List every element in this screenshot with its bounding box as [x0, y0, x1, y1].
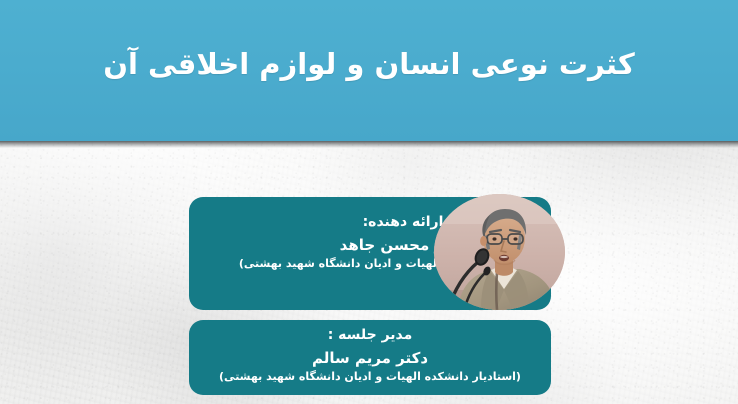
speaker-photo [434, 194, 565, 310]
moderator-name: دکتر مریم سالم [203, 347, 537, 370]
page-title: کثرت نوعی انسان و لوازم اخلاقی آن [73, 47, 665, 82]
event-poster: کثرت نوعی انسان و لوازم اخلاقی آن ارائه … [0, 0, 738, 404]
moderator-role-label: مدیر جلسه : [203, 325, 537, 347]
poster-header: کثرت نوعی انسان و لوازم اخلاقی آن [0, 0, 738, 141]
moderator-card: مدیر جلسه : دکتر مریم سالم (استادیار دان… [189, 320, 551, 395]
speaker-portrait-image [434, 194, 565, 310]
moderator-affiliation: (استادیار دانشکده الهیات و ادیان دانشگاه… [203, 369, 537, 386]
